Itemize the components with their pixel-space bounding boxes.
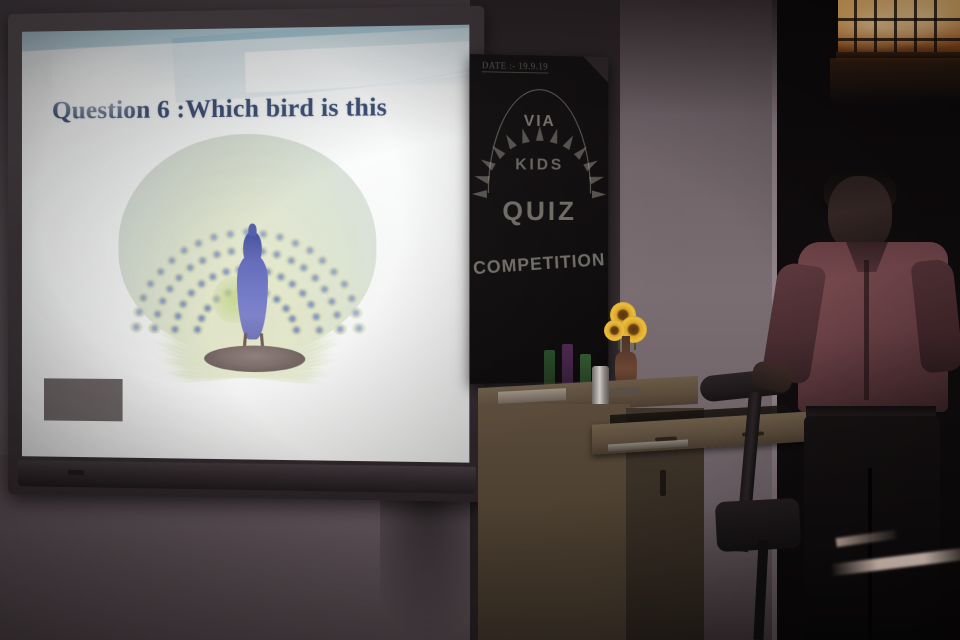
peacock-eyespot: [344, 293, 358, 304]
slide-placeholder-box: [44, 378, 123, 421]
peacock-eyespot: [284, 255, 297, 266]
slide-title: Question 6 :Which bird is this: [52, 93, 465, 126]
peacock-eyespot: [349, 308, 363, 319]
peacock-eyespot: [273, 232, 286, 243]
blackboard-line-quiz: QUIZ: [470, 196, 608, 227]
peacock-eyespot: [286, 313, 299, 324]
peacock-eyespot: [333, 324, 347, 335]
blackboard-corner-notch: [583, 57, 608, 83]
peacock-eyespot: [297, 262, 311, 273]
window-bar-icon: [874, 0, 877, 58]
slide-banner: [22, 25, 469, 90]
peacock-eyespot: [309, 272, 323, 283]
peacock-eyespot: [196, 255, 209, 266]
peacock-eyespot: [191, 324, 204, 335]
peacock-eyespot: [192, 237, 205, 248]
peacock-eyespot: [172, 272, 185, 283]
steel-tumbler: [592, 366, 609, 406]
peacock-eyespot: [352, 323, 366, 334]
peacock-eyespot: [185, 288, 198, 299]
peacock-eyespot: [303, 245, 317, 256]
person-head: [828, 176, 892, 252]
peacock-eyespot: [325, 296, 339, 307]
peacock-eyespot: [144, 278, 157, 289]
peacock-eyespot: [132, 307, 145, 318]
cabinet-handle-icon[interactable]: [660, 470, 666, 496]
blackboard-line-competition: COMPETITION: [470, 249, 608, 279]
window-bar-icon: [934, 0, 937, 58]
peacock-eyespot: [171, 311, 184, 322]
person-shirt-placket: [864, 260, 869, 400]
sunburst-icon: [488, 88, 591, 193]
sunburst-ray-icon: [503, 133, 517, 150]
peacock-eyespot: [289, 325, 302, 336]
peacock-neck: [243, 232, 262, 267]
person-leg-gap: [868, 468, 872, 640]
peacock-eyespot: [194, 278, 207, 289]
peacock-eyespot: [224, 228, 237, 239]
peacock-eyespot: [137, 292, 150, 303]
window-shadow: [830, 58, 960, 104]
peacock-eyespot: [178, 245, 191, 256]
peacock-eyespot: [206, 271, 219, 282]
peacock-eyespot: [270, 249, 283, 260]
peacock-crest-icon: [248, 223, 256, 235]
blackboard-line-kids: KIDS: [470, 156, 608, 175]
projection-surface: Question 6 :Which bird is this: [22, 25, 469, 463]
peacock-eyespot: [148, 323, 161, 334]
peacock-eyespot: [337, 279, 351, 290]
sunflower: [640, 298, 658, 316]
peacock-eyespot: [165, 255, 178, 266]
peacock-eyespot: [183, 262, 196, 273]
blackboard-line-via: VIA: [470, 112, 608, 132]
peacock-image: [119, 133, 377, 390]
peacock-eyespot: [296, 288, 310, 299]
whiteboard: Question 6 :Which bird is this: [8, 6, 484, 502]
window-bar-icon: [854, 0, 857, 58]
peacock-eyespot: [328, 266, 342, 277]
peacock-eyespot: [316, 255, 330, 266]
window: [838, 0, 960, 58]
peacock-eyespot: [318, 283, 332, 294]
peacock-eyespot: [177, 298, 190, 309]
peacock-eyespot: [312, 324, 326, 335]
photo-scene: Question 6 :Which bird is this: [0, 0, 960, 640]
peacock-eyespot: [331, 309, 345, 320]
peacock-eyespot: [309, 311, 323, 322]
presentation-slide: Question 6 :Which bird is this: [22, 25, 469, 463]
blackboard: DATE :- 19.9.19 VIA KIDS QUIZ COMPETITIO…: [470, 54, 608, 384]
person-trousers: [804, 416, 940, 640]
peacock-eyespot: [154, 266, 167, 277]
sunburst-ray-icon: [563, 133, 577, 150]
peacock-eyespot: [289, 237, 302, 248]
peacock-eyespot: [163, 283, 176, 294]
peacock-eyespot: [169, 323, 182, 334]
peacock-eyespot: [279, 302, 292, 313]
peacock-eyespot: [195, 312, 208, 323]
peacock-eyespot: [210, 249, 223, 260]
peacock-eyespot: [151, 309, 164, 320]
peacock-eyespot: [225, 245, 238, 256]
window-bar-icon: [914, 0, 917, 58]
peacock-eyespot: [130, 322, 143, 333]
peacock-eyespot: [156, 295, 169, 306]
peacock-eyespot: [304, 299, 318, 310]
window-bar-icon: [838, 18, 960, 21]
blackboard-date: DATE :- 19.9.19: [482, 60, 548, 73]
peacock-eyespot: [207, 232, 220, 243]
window-bar-icon: [894, 0, 897, 58]
window-bar-icon: [838, 38, 960, 41]
